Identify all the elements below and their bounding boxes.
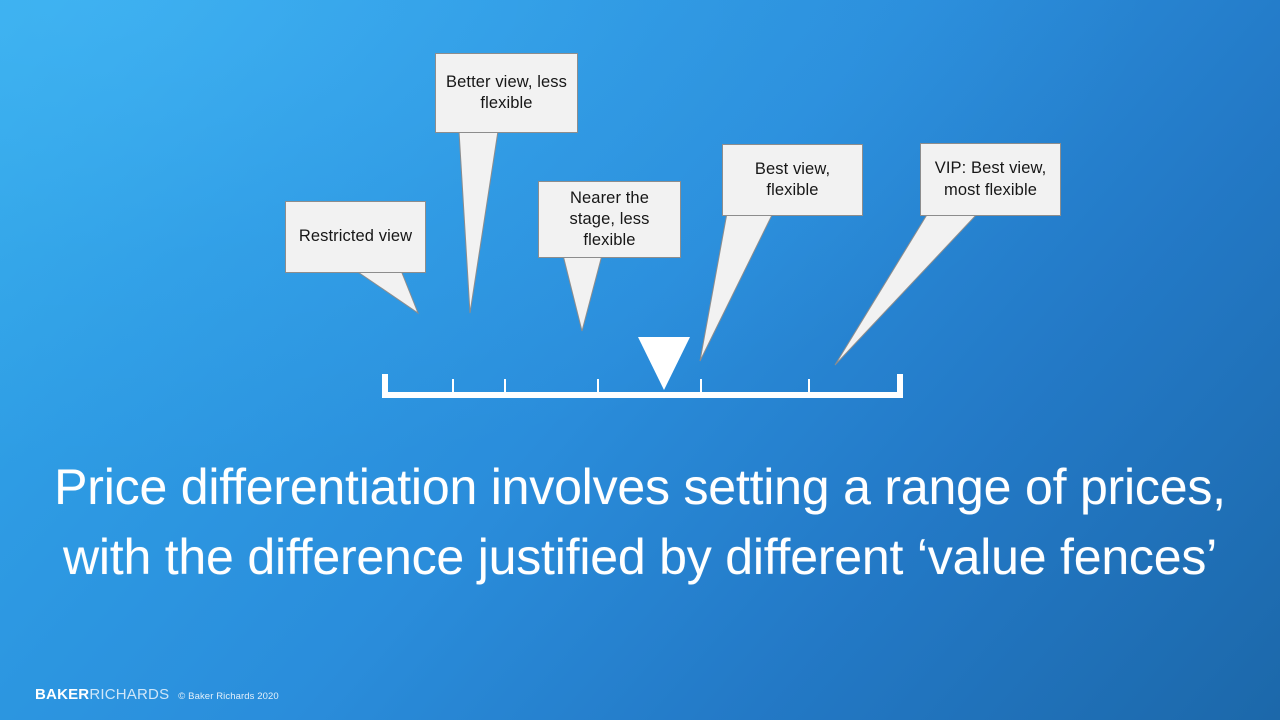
slide-canvas: Restricted view Better view, less flexib… bbox=[0, 0, 1280, 720]
logo-richards: RICHARDS bbox=[89, 686, 169, 703]
callout-restricted-view-label: Restricted view bbox=[294, 226, 417, 247]
callout-nearer-stage: Nearer the stage, less flexible bbox=[538, 181, 681, 258]
scale-end-cap-right bbox=[897, 374, 903, 392]
footer: BAKERRICHARDS © Baker Richards 2020 bbox=[35, 687, 279, 702]
callout-best-view-label: Best view, flexible bbox=[731, 159, 854, 201]
scale-tick-1 bbox=[452, 379, 454, 392]
scale-tick-2 bbox=[504, 379, 506, 392]
logo-baker: BAKER bbox=[35, 686, 89, 703]
callout-vip-best-view-label: VIP: Best view, most flexible bbox=[929, 158, 1052, 200]
price-point-marker-icon bbox=[638, 337, 690, 390]
callout-nearer-stage-label: Nearer the stage, less flexible bbox=[547, 188, 672, 251]
scale-group bbox=[382, 374, 903, 398]
callout-vip-best-view: VIP: Best view, most flexible bbox=[920, 143, 1061, 216]
copyright-notice: © Baker Richards 2020 bbox=[178, 692, 278, 702]
scale-baseline bbox=[382, 392, 903, 398]
callout-better-view-label: Better view, less flexible bbox=[444, 72, 569, 114]
scale-end-cap-left bbox=[382, 374, 388, 392]
scale-tick-5 bbox=[808, 379, 810, 392]
price-range-scale bbox=[0, 0, 1280, 720]
scale-tick-3 bbox=[597, 379, 599, 392]
baker-richards-logo: BAKERRICHARDS bbox=[35, 687, 169, 702]
scale-tick-4 bbox=[700, 379, 702, 392]
callout-better-view: Better view, less flexible bbox=[435, 53, 578, 133]
page-title: Price differentiation involves setting a… bbox=[44, 452, 1236, 592]
callout-restricted-view: Restricted view bbox=[285, 201, 426, 273]
callout-best-view: Best view, flexible bbox=[722, 144, 863, 216]
